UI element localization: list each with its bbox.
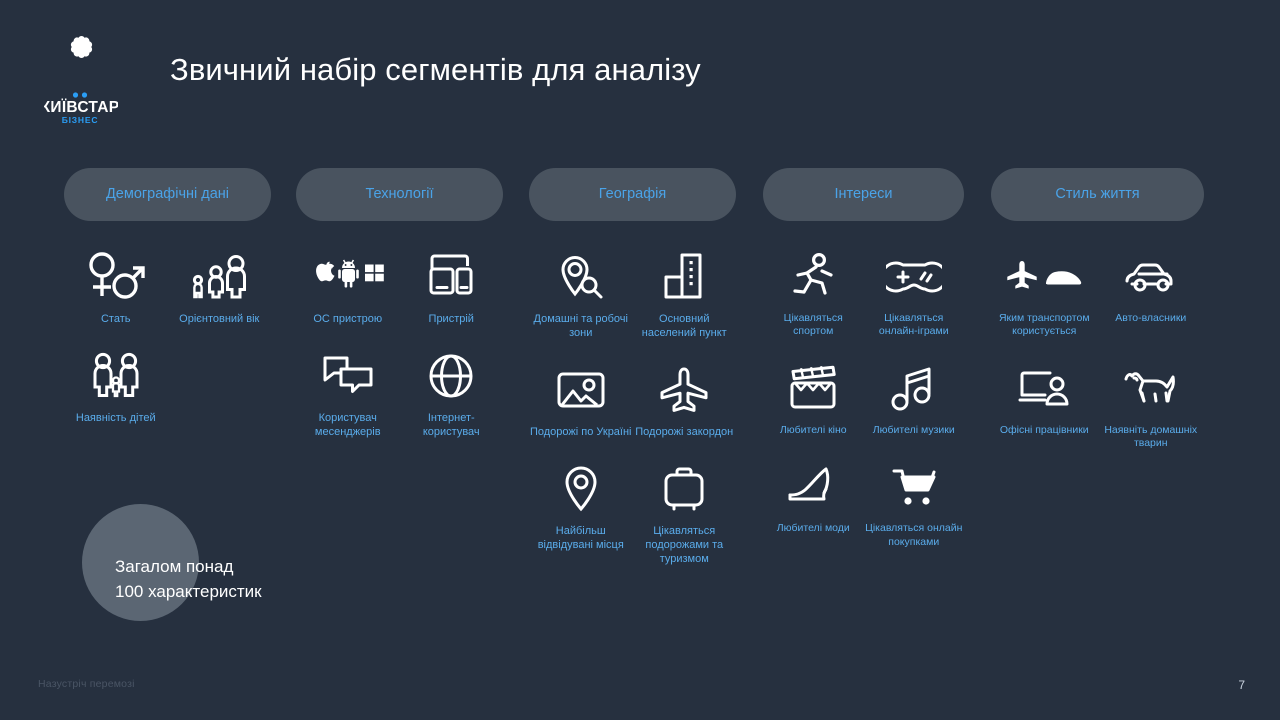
clapperboard-icon (786, 361, 840, 417)
segment-label: Цікавляться онлайн-іграми (864, 312, 965, 339)
pill-interests[interactable]: Інтереси (763, 168, 964, 221)
segment-item[interactable]: Любителі музики (864, 361, 965, 437)
column-technology: Технології (296, 168, 503, 439)
suitcase-icon (661, 461, 707, 517)
shopping-cart-icon (888, 459, 940, 515)
segment-label: Основний населений пункт (633, 312, 737, 340)
pill-lifestyle[interactable]: Стиль життя (991, 168, 1204, 221)
segment-item[interactable]: Подорожі закордон (633, 362, 737, 439)
car-icon (1123, 249, 1179, 305)
summary-text: Загалом понад 100 характеристик (115, 555, 262, 604)
segment-item[interactable]: Цікавляться подорожами та туризмом (633, 461, 737, 566)
page-title: Звичний набір сегментів для аналізу (170, 52, 701, 88)
items-lifestyle: Яким транспортом користується Авто-власн… (991, 249, 1204, 451)
segment-item[interactable]: Найбільш відвідувані місця (529, 461, 633, 566)
pill-geography[interactable]: Географія (529, 168, 736, 221)
pill-technology[interactable]: Технології (296, 168, 503, 221)
gamepad-icon (886, 249, 942, 305)
segment-item[interactable]: Наявніть домашніх тварин (1098, 361, 1205, 451)
segment-item[interactable]: Наявність дітей (64, 348, 168, 425)
column-interests: Інтереси Цікавляться спортом (763, 168, 964, 549)
segment-item[interactable]: Цікавляться спортом (763, 249, 864, 339)
pill-label: Технології (365, 186, 433, 204)
column-lifestyle: Стиль життя Яким транспортом користуєтьс… (991, 168, 1204, 451)
logo-sub-text: БІЗНЕС (62, 115, 99, 124)
segment-item[interactable]: Основний населений пункт (633, 249, 737, 340)
items-demographics: Стать Орієнтовний вік (64, 249, 271, 425)
segment-item[interactable]: Інтернет-користувач (400, 348, 504, 439)
city-buildings-icon (660, 249, 708, 305)
globe-icon (427, 348, 475, 404)
gender-symbols-icon (85, 249, 147, 305)
segment-item[interactable]: Любителі кіно (763, 361, 864, 437)
segment-label: Орієнтовний вік (179, 312, 259, 326)
segment-item[interactable]: Любителі моди (763, 459, 864, 549)
segment-item[interactable]: Яким транспортом користується (991, 249, 1098, 339)
segment-label: Домашні та робочі зони (529, 312, 633, 340)
segment-label: Наявність дітей (76, 411, 156, 425)
segment-label: Яким транспортом користується (991, 312, 1098, 339)
segment-label: Офісні працівники (1000, 424, 1089, 437)
os-platforms-icon (311, 249, 385, 305)
segment-item[interactable]: Цікавляться онлайн покупками (864, 459, 965, 549)
landscape-photo-icon (556, 362, 606, 418)
page-number: 7 (1238, 678, 1245, 692)
items-interests: Цікавляться спортом Цікавляться онлайн-і… (763, 249, 964, 549)
airplane-icon (658, 362, 710, 418)
pill-label: Стиль життя (1055, 186, 1139, 204)
kyivstar-logo: КИЇВСТАР БІЗНЕС (44, 32, 118, 124)
segment-label: Любителі моди (777, 522, 850, 535)
chat-bubbles-icon (321, 348, 375, 404)
running-person-icon (788, 249, 838, 305)
segment-label: Цікавляться онлайн покупками (864, 522, 965, 549)
high-heel-shoe-icon (786, 459, 840, 515)
plane-and-car-icon (1004, 249, 1084, 305)
items-technology: ОС пристрою Пристрій (296, 249, 503, 439)
segment-label: Користувач месенджерів (296, 411, 400, 439)
map-pin-icon (561, 461, 601, 517)
music-note-icon (891, 361, 937, 417)
pill-label: Демографічні дані (106, 186, 229, 204)
segment-item[interactable]: Користувач месенджерів (296, 348, 400, 439)
segment-label: Авто-власники (1115, 312, 1186, 325)
logo-brand-text: КИЇВСТАР (44, 99, 118, 116)
segment-item[interactable]: Авто-власники (1098, 249, 1205, 339)
family-children-icon (86, 348, 146, 404)
segment-label: ОС пристрою (313, 312, 382, 326)
segment-item[interactable]: Стать (64, 249, 168, 326)
segment-item[interactable]: Орієнтовний вік (168, 249, 272, 326)
segment-label: Любителі музики (873, 424, 955, 437)
pill-label: Географія (599, 186, 666, 204)
segment-label: Подорожі закордон (635, 425, 733, 439)
segment-label: Стать (101, 312, 131, 326)
dog-icon (1122, 361, 1180, 417)
devices-icon (426, 249, 476, 305)
segment-label: Пристрій (429, 312, 474, 326)
segment-item[interactable]: Офісні працівники (991, 361, 1098, 451)
kyivstar-star-logo: КИЇВСТАР БІЗНЕС (44, 32, 118, 124)
segment-item[interactable]: Подорожі по Україні (529, 362, 633, 439)
segment-item[interactable]: Домашні та робочі зони (529, 249, 633, 340)
footer-slogan: Назустріч перемозі (38, 678, 135, 690)
segment-label: Подорожі по Україні (530, 425, 632, 439)
segment-item[interactable]: ОС пристрою (296, 249, 400, 326)
segment-item[interactable]: Пристрій (400, 249, 504, 326)
column-geography: Географія Домашні та робочі зони (529, 168, 736, 566)
segment-item[interactable]: Цікавляться онлайн-іграми (864, 249, 965, 339)
segment-label: Цікавляться спортом (763, 312, 864, 339)
segment-label: Інтернет-користувач (400, 411, 504, 439)
pill-label: Інтереси (834, 186, 892, 204)
pill-demographics[interactable]: Демографічні дані (64, 168, 271, 221)
segment-label: Цікавляться подорожами та туризмом (633, 524, 737, 566)
location-search-icon (556, 249, 606, 305)
segment-label: Любителі кіно (780, 424, 847, 437)
segment-label: Наявніть домашніх тварин (1098, 424, 1205, 451)
segment-label: Найбільш відвідувані місця (529, 524, 633, 552)
column-demographics: Демографічні дані Стать (64, 168, 271, 425)
office-worker-icon (1017, 361, 1071, 417)
age-people-icon (189, 249, 249, 305)
items-geography: Домашні та робочі зони Ос (529, 249, 736, 566)
